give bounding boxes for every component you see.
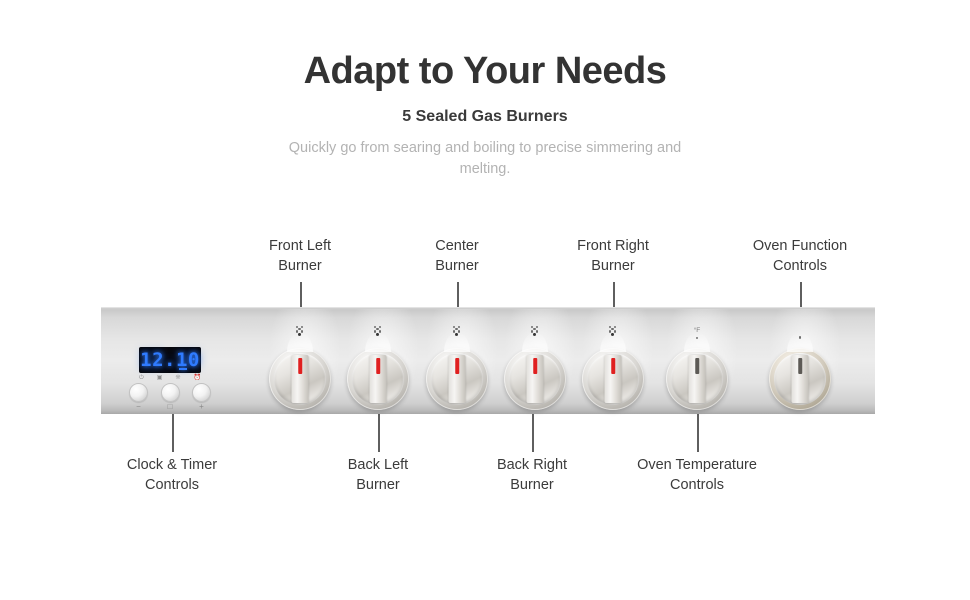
callout-front-right-burner: Front Right Burner [523,236,703,276]
plus-button[interactable]: + [192,383,211,411]
callout-center-burner: Center Burner [367,236,547,276]
set-button-label: □ [161,403,180,411]
clock-timer-button-row: −□+ [129,383,211,411]
callout-front-left-burner: Front Left Burner [210,236,390,276]
minus-button[interactable]: − [129,383,148,411]
knob-center-burner[interactable] [421,326,493,410]
knob-back-right-burner[interactable] [499,326,571,410]
knob-back-left-burner[interactable] [342,326,414,410]
digital-clock-display[interactable]: 12.10 [139,347,201,373]
set-button-circle[interactable] [161,383,180,402]
knob-indicator-mark [376,358,380,374]
knob-indicator-mark [798,358,802,374]
page-subtitle: 5 Sealed Gas Burners [0,108,970,126]
knob-indicator-mark [298,358,302,374]
knob-indicator-mark [611,358,615,374]
page-title: Adapt to Your Needs [0,50,970,93]
knob-oven-function-dial[interactable] [769,348,831,410]
callout-oven-function-controls: Oven Function Controls [710,236,890,276]
callout-oven-temperature-controls: Oven Temperature Controls [597,455,797,495]
plus-button-circle[interactable] [192,383,211,402]
knob-oven-function[interactable] [764,326,836,410]
knob-indicator-mark [455,358,459,374]
knob-back-left-burner-dial[interactable] [347,348,409,410]
knob-oven-temperature-dial[interactable] [666,348,728,410]
plus-button-label: + [192,403,211,411]
minus-button-circle[interactable] [129,383,148,402]
knob-center-burner-dial[interactable] [426,348,488,410]
knob-front-right-burner-dial[interactable] [582,348,644,410]
knob-oven-temperature[interactable]: °F [661,326,733,410]
knob-indicator-mark [533,358,537,374]
display-indicator-bar [179,368,187,370]
range-control-panel: 12.10 ⏻ ▣ ❊ ⏰ −□+ °F [101,307,875,414]
callout-clock-timer-controls: Clock & Timer Controls [72,455,272,495]
fan-icon: ❊ [175,375,180,381]
knob-indicator-mark [695,358,699,374]
lamp-icon: ⏻ [139,375,144,381]
oven-icon: ▣ [157,375,163,381]
timer-icon: ⏰ [194,375,201,381]
set-button[interactable]: □ [161,383,180,411]
knob-back-right-burner-dial[interactable] [504,348,566,410]
display-status-icons: ⏻ ▣ ❊ ⏰ [139,375,201,381]
page-description: Quickly go from searing and boiling to p… [285,138,685,180]
product-feature-graphic: Adapt to Your Needs 5 Sealed Gas Burners… [0,0,970,600]
knob-front-left-burner[interactable] [264,326,336,410]
minus-button-label: − [129,403,148,411]
clock-value: 12.10 [140,351,200,370]
knob-front-left-burner-dial[interactable] [269,348,331,410]
knob-front-right-burner[interactable] [577,326,649,410]
